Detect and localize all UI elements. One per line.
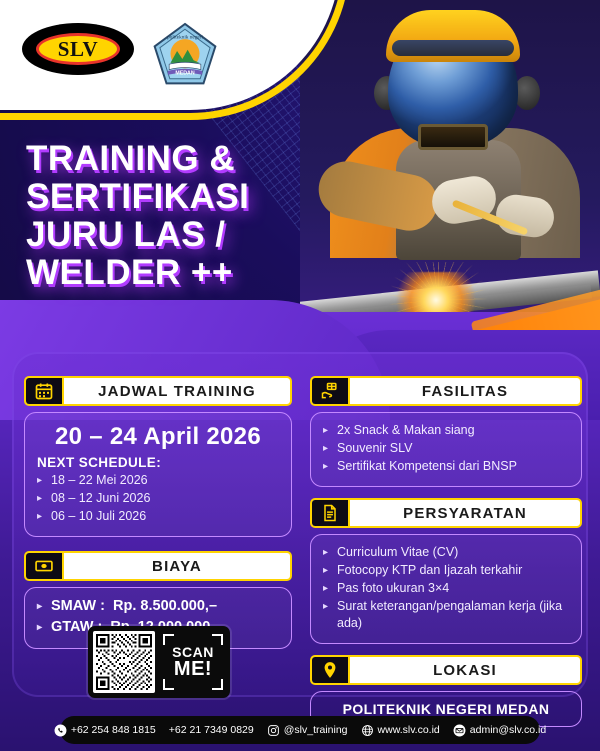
scan-me-line-1: SCAN bbox=[172, 645, 214, 659]
jadwal-body: 20 – 24 April 2026 NEXT SCHEDULE: 18 – 2… bbox=[24, 412, 292, 537]
jadwal-title: JADWAL TRAINING bbox=[64, 378, 290, 404]
phone-number-1: +62 254 848 1815 bbox=[71, 724, 156, 736]
scan-frame-corner bbox=[163, 634, 174, 645]
list-item: Surat keterangan/pengalaman kerja (jika … bbox=[323, 598, 569, 632]
fasilitas-header: FASILITAS bbox=[310, 376, 582, 406]
list-item: 08 – 12 Juni 2026 bbox=[37, 490, 279, 507]
list-item: Fotocopy KTP dan Ijazah terkahir bbox=[323, 562, 569, 579]
jadwal-header: JADWAL TRAINING bbox=[24, 376, 292, 406]
next-schedule-label: NEXT SCHEDULE: bbox=[37, 455, 279, 470]
slv-logo-text: SLV bbox=[36, 33, 120, 65]
money-icon bbox=[26, 553, 64, 579]
phone-contact-2[interactable]: +62 21 7349 0829 bbox=[169, 724, 254, 736]
list-item: 18 – 22 Mei 2026 bbox=[37, 472, 279, 489]
list-item: 2x Snack & Makan siang bbox=[323, 422, 569, 439]
document-icon bbox=[312, 500, 350, 526]
list-item: Souvenir SLV bbox=[323, 440, 569, 457]
instagram-contact[interactable]: @slv_training bbox=[267, 724, 348, 737]
fasilitas-title: FASILITAS bbox=[350, 378, 580, 404]
website-url: www.slv.co.id bbox=[378, 724, 440, 736]
price-row-smaw: SMAW : Rp. 8.500.000,– bbox=[37, 596, 279, 617]
phone-number-2: +62 21 7349 0829 bbox=[169, 724, 254, 736]
list-item: Curriculum Vitae (CV) bbox=[323, 544, 569, 561]
section-jadwal: JADWAL TRAINING 20 – 24 April 2026 NEXT … bbox=[24, 376, 292, 537]
title-line-3: JURU LAS / bbox=[26, 216, 356, 254]
welding-helmet-band bbox=[392, 40, 514, 56]
svg-text:MEDAN: MEDAN bbox=[175, 70, 195, 76]
lokasi-title: LOKASI bbox=[350, 657, 580, 683]
qr-code[interactable] bbox=[93, 631, 155, 693]
instagram-handle: @slv_training bbox=[284, 724, 348, 736]
politeknik-negeri-medan-logo: MEDAN politeknik negeri bbox=[152, 22, 218, 88]
persyaratan-list: Curriculum Vitae (CV) Fotocopy KTP dan I… bbox=[323, 544, 569, 632]
welding-helmet-visor bbox=[418, 124, 488, 150]
biaya-title: BIAYA bbox=[64, 553, 290, 579]
persyaratan-header: PERSYARATAN bbox=[310, 498, 582, 528]
hand-gift-icon bbox=[312, 378, 350, 404]
slv-logo: SLV bbox=[22, 23, 134, 75]
page-title: TRAINING & SERTIFIKASI JURU LAS / WELDER… bbox=[26, 140, 356, 292]
section-fasilitas: FASILITAS 2x Snack & Makan siang Souveni… bbox=[310, 376, 582, 487]
scan-me-line-2: ME! bbox=[174, 659, 212, 679]
main-training-date: 20 – 24 April 2026 bbox=[37, 423, 279, 451]
list-item: Pas foto ukuran 3×4 bbox=[323, 580, 569, 597]
section-persyaratan: PERSYARATAN Curriculum Vitae (CV) Fotoco… bbox=[310, 498, 582, 644]
persyaratan-title: PERSYARATAN bbox=[350, 500, 580, 526]
email-contact[interactable]: admin@slv.co.id bbox=[453, 724, 546, 737]
qr-code-block[interactable]: SCAN ME! bbox=[88, 626, 230, 698]
title-line-1: TRAINING & bbox=[26, 140, 356, 178]
lokasi-header: LOKASI bbox=[310, 655, 582, 685]
contact-footer: +62 254 848 1815 +62 21 7349 0829 @slv_t… bbox=[60, 716, 540, 744]
list-item: Sertifikat Kompetensi dari BNSP bbox=[323, 458, 569, 475]
scan-me-label: SCAN ME! bbox=[161, 632, 225, 692]
left-column: JADWAL TRAINING 20 – 24 April 2026 NEXT … bbox=[24, 376, 292, 649]
website-contact[interactable]: www.slv.co.id bbox=[361, 724, 440, 737]
scan-frame-corner bbox=[163, 679, 174, 690]
next-schedule-list: 18 – 22 Mei 2026 08 – 12 Juni 2026 06 – … bbox=[37, 472, 279, 525]
right-column: FASILITAS 2x Snack & Makan siang Souveni… bbox=[310, 376, 582, 727]
persyaratan-body: Curriculum Vitae (CV) Fotocopy KTP dan I… bbox=[310, 534, 582, 644]
email-address: admin@slv.co.id bbox=[470, 724, 546, 736]
phone-contact-1[interactable]: +62 254 848 1815 bbox=[54, 724, 156, 737]
map-pin-icon bbox=[312, 657, 350, 683]
list-item: 06 – 10 Juli 2026 bbox=[37, 508, 279, 525]
title-line-4: WELDER ++ bbox=[26, 254, 356, 292]
scan-frame-corner bbox=[212, 679, 223, 690]
fasilitas-list: 2x Snack & Makan siang Souvenir SLV Sert… bbox=[323, 422, 569, 475]
poster: SLV MEDAN politeknik negeri TRAINING & S… bbox=[0, 0, 600, 751]
scan-frame-corner bbox=[212, 634, 223, 645]
calendar-icon bbox=[26, 378, 64, 404]
svg-text:politeknik negeri: politeknik negeri bbox=[167, 35, 203, 41]
biaya-header: BIAYA bbox=[24, 551, 292, 581]
fasilitas-body: 2x Snack & Makan siang Souvenir SLV Sert… bbox=[310, 412, 582, 487]
title-line-2: SERTIFIKASI bbox=[26, 178, 356, 216]
